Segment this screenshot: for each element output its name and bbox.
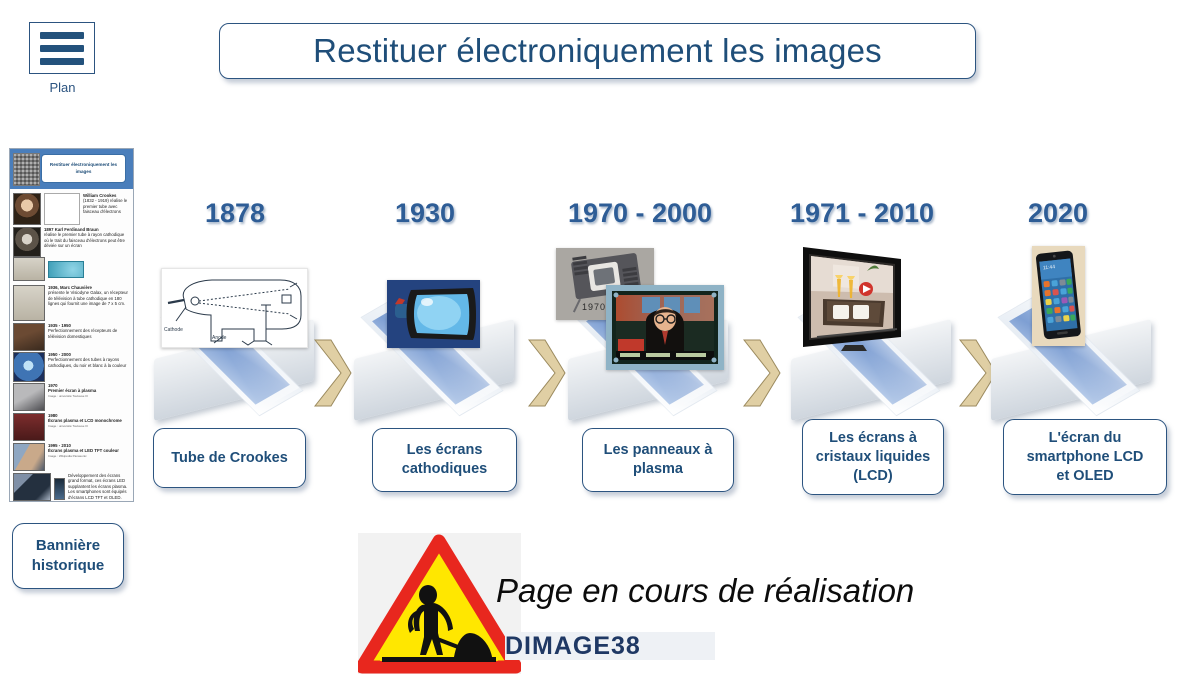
slide-canvas: Plan Restituer électroniquement les imag… (0, 0, 1200, 675)
timeline-arrow-1-icon (311, 338, 353, 408)
photo-panneaux-plasma-image (606, 285, 724, 370)
anode-label: Anode (212, 335, 227, 341)
timeline-caption-5[interactable]: L'écran du smartphone LCD et OLED (1003, 419, 1167, 495)
timeline-caption-4[interactable]: Les écrans à cristaux liquides (LCD) (802, 419, 944, 495)
timeline-arrow-2-icon (525, 338, 567, 408)
cathode-label: Cathode (164, 327, 183, 333)
prototype-year-label: 1970 (582, 302, 606, 312)
timeline-date-3: 1970 - 2000 (540, 198, 740, 229)
timeline-caption-2-text: Les écrans cathodiques (394, 441, 495, 479)
timeline-caption-5-text: L'écran du smartphone LCD et OLED (1019, 429, 1152, 486)
timeline-caption-1-text: Tube de Crookes (163, 449, 296, 468)
timeline-caption-4-text: Les écrans à cristaux liquides (LCD) (808, 429, 938, 486)
timeline-date-1: 1878 (135, 198, 335, 229)
timeline-date-2: 1930 (325, 198, 525, 229)
dimage38-logo[interactable]: DIMAGE38 (505, 632, 715, 660)
timeline-caption-1[interactable]: Tube de Crookes (153, 428, 306, 488)
timeline-caption-3-text: Les panneaux à plasma (596, 441, 721, 479)
photo-ecran-lcd-image (793, 241, 907, 353)
photo-televiseur-cathodique-image (387, 280, 480, 348)
timeline-date-4: 1971 - 2010 (762, 198, 962, 229)
svg-text:11:44: 11:44 (1043, 264, 1056, 271)
dimage38-logo-text: DIMAGE38 (505, 632, 641, 661)
timeline-caption-2[interactable]: Les écrans cathodiques (372, 428, 517, 492)
page-status-text: Page en cours de réalisation (496, 572, 914, 610)
photo-smartphone-image: 11:44 (1032, 246, 1085, 346)
schema-tube-crookes-image: Cathode Anode (161, 268, 308, 348)
timeline-date-5: 2020 (958, 198, 1158, 229)
timeline-arrow-3-icon (740, 338, 782, 408)
timeline-caption-3[interactable]: Les panneaux à plasma (582, 428, 734, 492)
